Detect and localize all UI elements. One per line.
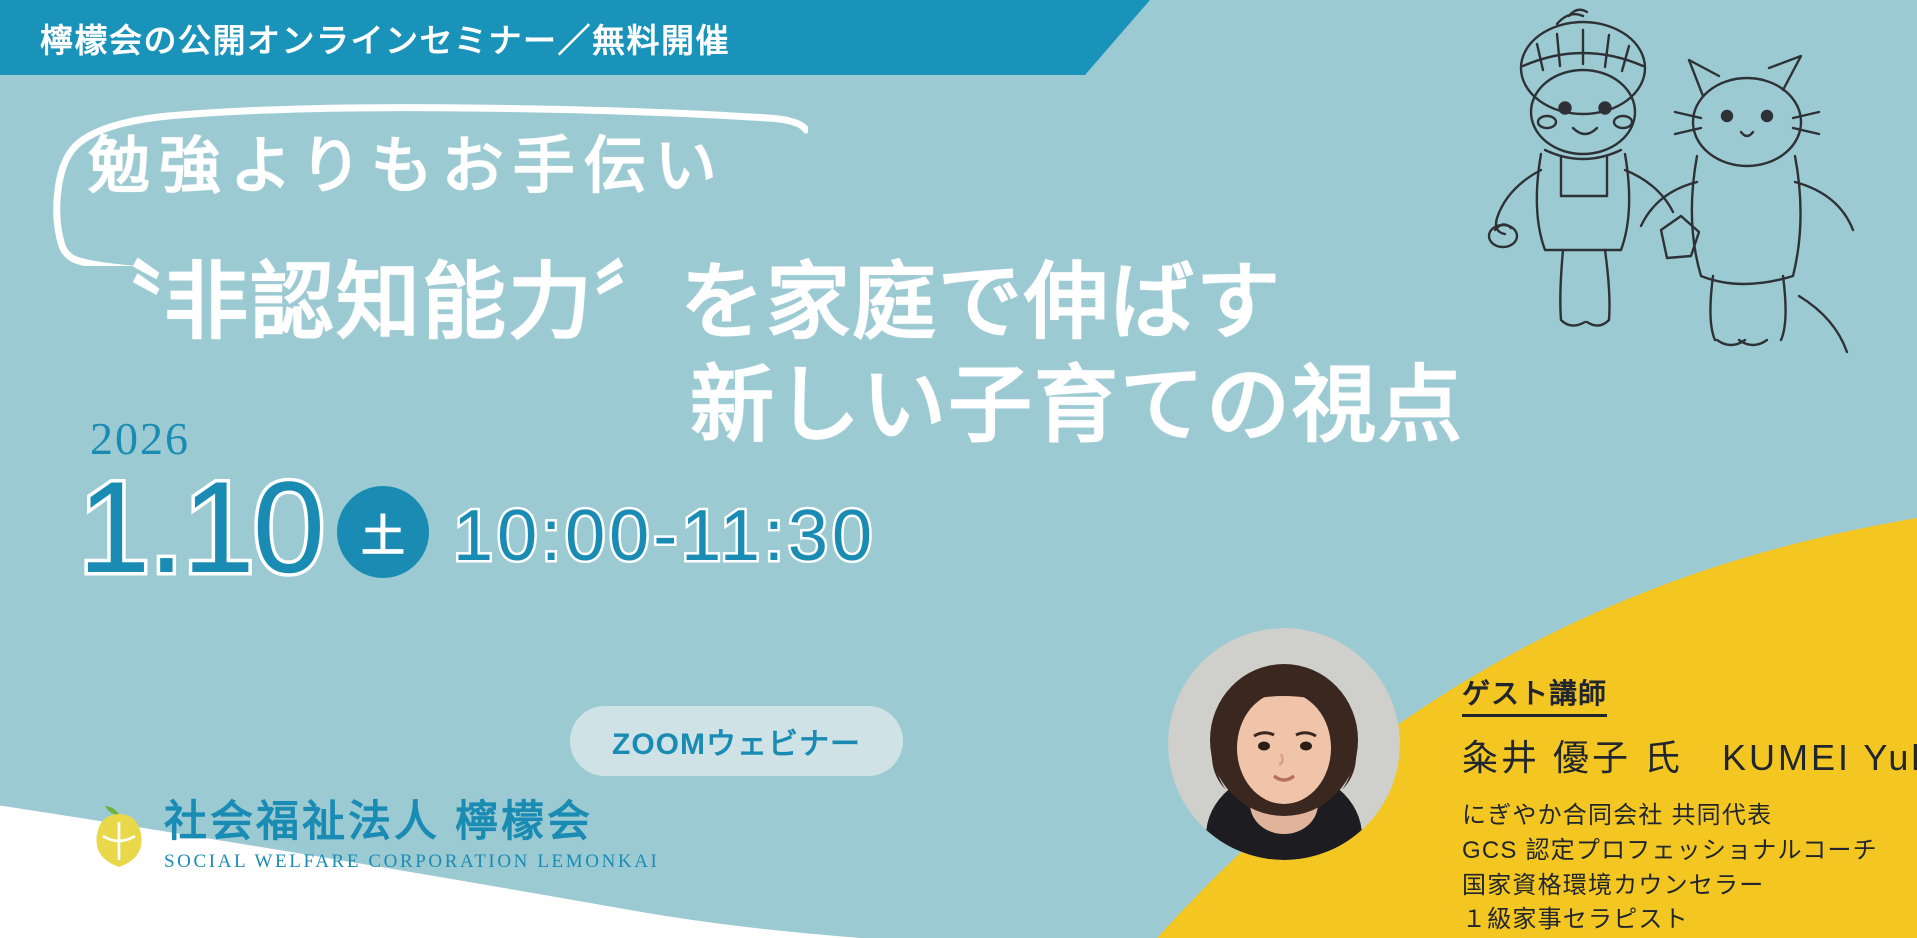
- credential-item: GCS 認定プロフェッショナルコーチ: [1462, 834, 1917, 869]
- header-ribbon: 檸檬会の公開オンラインセミナー／無料開催: [0, 0, 1150, 75]
- weekday-badge: 土: [337, 486, 429, 578]
- poster-canvas: 檸檬会の公開オンラインセミナー／無料開催 勉強よりもお手伝い 〝非認知能力〞を家…: [0, 0, 1917, 938]
- speaker-name: 粂井 優子 氏 KUMEI Yuko: [1462, 729, 1917, 781]
- platform-badge: ZOOMウェビナー: [570, 706, 903, 776]
- event-time: 10:00-11:30: [453, 500, 876, 572]
- speaker-info: ゲスト講師 粂井 優子 氏 KUMEI Yuko にぎやか合同会社 共同代表 G…: [1462, 672, 1917, 938]
- lemon-icon: [88, 802, 150, 872]
- headline-line-1: 〝非認知能力〞を家庭で伸ばす: [0, 258, 1560, 347]
- speaker-portrait: [1168, 628, 1400, 860]
- avatar: [1168, 628, 1400, 860]
- credential-item: １級家事セラピスト: [1462, 903, 1917, 938]
- subtitle-text: 勉強よりもお手伝い: [88, 115, 726, 205]
- credential-item: にぎやか合同会社 共同代表: [1462, 799, 1917, 834]
- event-date-row: 1.10 土 10:00-11:30: [78, 462, 876, 592]
- organization-logo: 社会福祉法人 檸檬会 SOCIAL WELFARE CORPORATION LE…: [88, 800, 659, 873]
- speaker-credentials: にぎやか合同会社 共同代表 GCS 認定プロフェッショナルコーチ 国家資格環境カ…: [1462, 799, 1917, 938]
- logo-secondary-text: SOCIAL WELFARE CORPORATION LEMONKAI: [164, 851, 659, 873]
- logo-primary-text: 社会福祉法人 檸檬会: [164, 800, 659, 845]
- ribbon-text: 檸檬会の公開オンラインセミナー／無料開催: [0, 14, 730, 62]
- event-date: 1.10: [78, 462, 323, 592]
- headline-line-2: 新しい子育ての視点: [0, 361, 1560, 450]
- speaker-role: ゲスト講師: [1462, 672, 1607, 717]
- credential-item: 国家資格環境カウンセラー: [1462, 869, 1917, 904]
- headline: 〝非認知能力〞を家庭で伸ばす 新しい子育ての視点: [0, 258, 1560, 450]
